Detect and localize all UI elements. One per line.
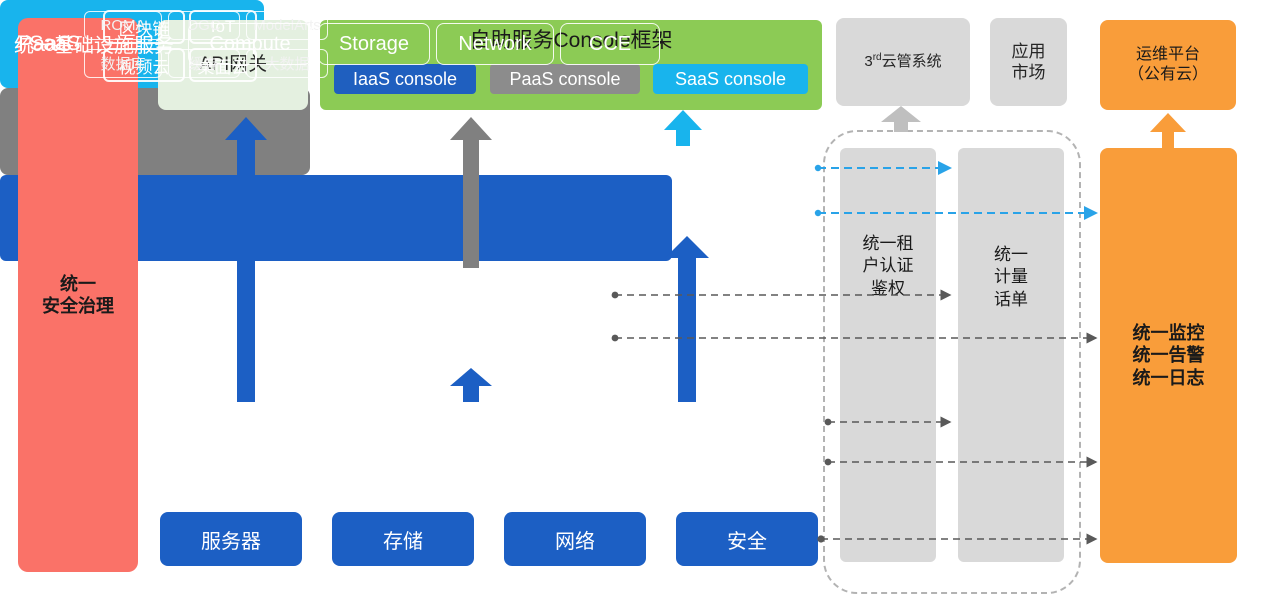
ops-monitoring-panel: 统一监控 统一告警 统一日志 [1100,148,1237,563]
arrow-saas-to-console [664,110,702,146]
ops-panel-line3: 统一日志 [1133,367,1205,390]
infra-service-compute[interactable]: Compute [188,23,312,65]
unified-metering-column: 统一 计量 话单 [958,148,1064,562]
ops-platform-line1: 运维平台 [1128,45,1208,65]
arrow-ops-panel-to-ops-platform [1150,113,1186,148]
tenant-auth-line2: 户认证 [863,255,914,277]
ops-platform-line2: （公有云） [1128,65,1208,85]
saas-console-pill[interactable]: SaaS console [653,64,808,94]
hardware-network-box[interactable]: 网络 [504,512,646,566]
ops-panel-line1: 统一监控 [1133,322,1205,345]
infra-service-cce[interactable]: CCE [560,23,660,65]
app-market-line2: 市场 [1012,62,1046,83]
hardware-storage-box[interactable]: 存储 [332,512,474,566]
architecture-diagram: 统一 安全治理 API网关 自助服务Console框架 IaaS console… [0,0,1265,605]
unified-security-panel: 统一 安全治理 [18,18,138,572]
iaas-console-pill[interactable]: IaaS console [334,64,476,94]
tenant-auth-line1: 统一租 [863,233,914,255]
metering-line1: 统一 [994,244,1028,266]
metering-line2: 计量 [994,266,1028,288]
arrow-infra-to-paas [450,368,492,402]
third-party-label: 3rd云管系统 [864,52,941,72]
hardware-security-box[interactable]: 安全 [676,512,818,566]
third-party-cloud-mgmt-box: 3rd云管系统 [836,18,970,106]
unified-tenant-auth-column: 统一租 户认证 鉴权 [840,148,936,562]
security-label-line2: 安全治理 [42,295,114,318]
infra-service-storage[interactable]: Storage [318,23,430,65]
metering-line3: 话单 [994,289,1028,311]
ops-platform-box: 运维平台 （公有云） [1100,20,1236,110]
ops-panel-line2: 统一告警 [1133,344,1205,367]
infrastructure-label: 统一基础设施服务 [14,0,174,86]
arrow-enclosure-to-third-party [881,106,921,132]
paas-console-pill[interactable]: PaaS console [490,64,640,94]
app-market-box: 应用 市场 [990,18,1067,106]
security-label-line1: 统一 [42,273,114,296]
infra-service-network[interactable]: Network [436,23,554,65]
app-market-line1: 应用 [1012,41,1046,62]
tenant-auth-line3: 鉴权 [863,278,914,300]
hardware-server-box[interactable]: 服务器 [160,512,302,566]
arrow-infra-to-saas [665,236,709,402]
